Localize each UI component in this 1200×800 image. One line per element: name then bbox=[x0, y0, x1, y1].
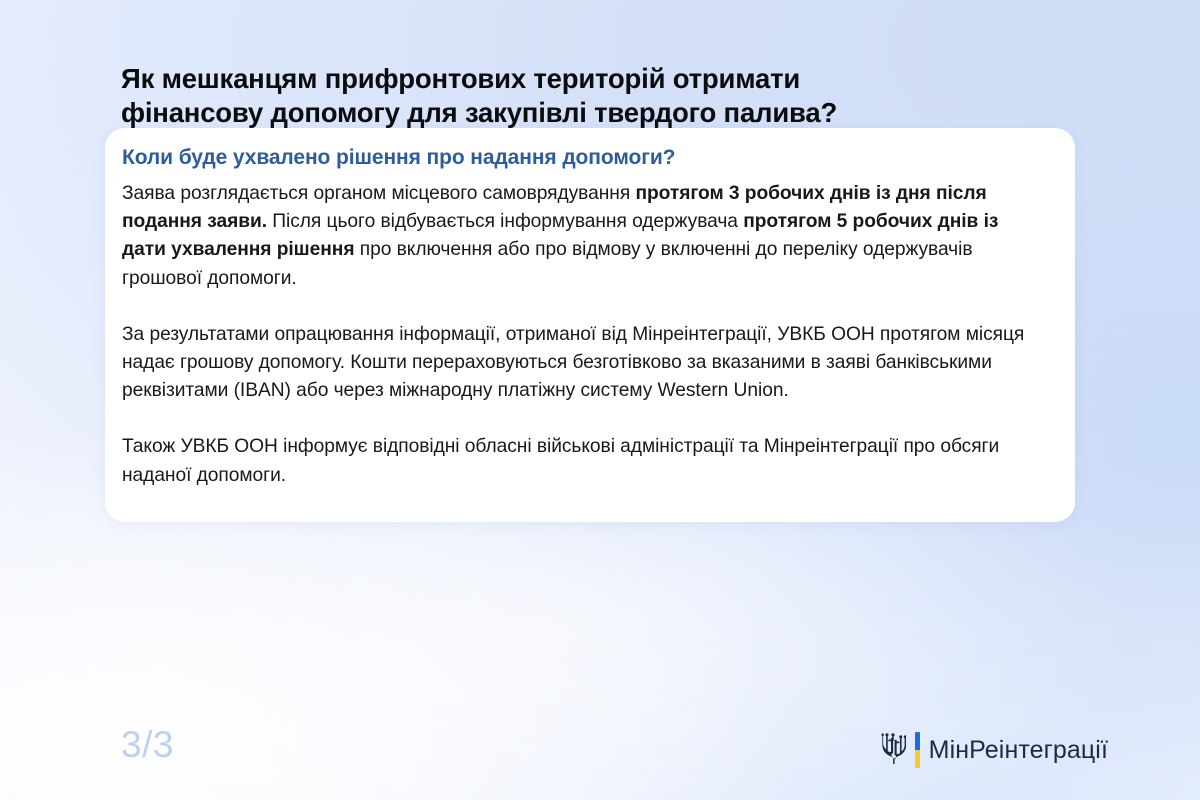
flag-bar-icon bbox=[915, 732, 920, 768]
card-paragraph-3: Також УВКБ ООН інформує відповідні облас… bbox=[122, 433, 1045, 489]
slide-stage: Як мешканцям прифронтових територій отри… bbox=[0, 0, 1200, 800]
card-heading: Коли буде ухвалено рішення про надання д… bbox=[122, 144, 1045, 172]
brand-logo: МінРеінтеграції bbox=[880, 730, 1108, 770]
info-card: Коли буде ухвалено рішення про надання д… bbox=[105, 128, 1075, 522]
page-counter: 3/3 bbox=[121, 723, 174, 767]
card-paragraph-1: Заява розглядається органом місцевого са… bbox=[122, 180, 1045, 293]
trident-icon bbox=[880, 733, 906, 767]
card-paragraph-2: За результатами опрацювання інформації, … bbox=[122, 321, 1045, 406]
brand-name: МінРеінтеграції bbox=[929, 735, 1108, 765]
page-title: Як мешканцям прифронтових територій отри… bbox=[121, 62, 1021, 130]
